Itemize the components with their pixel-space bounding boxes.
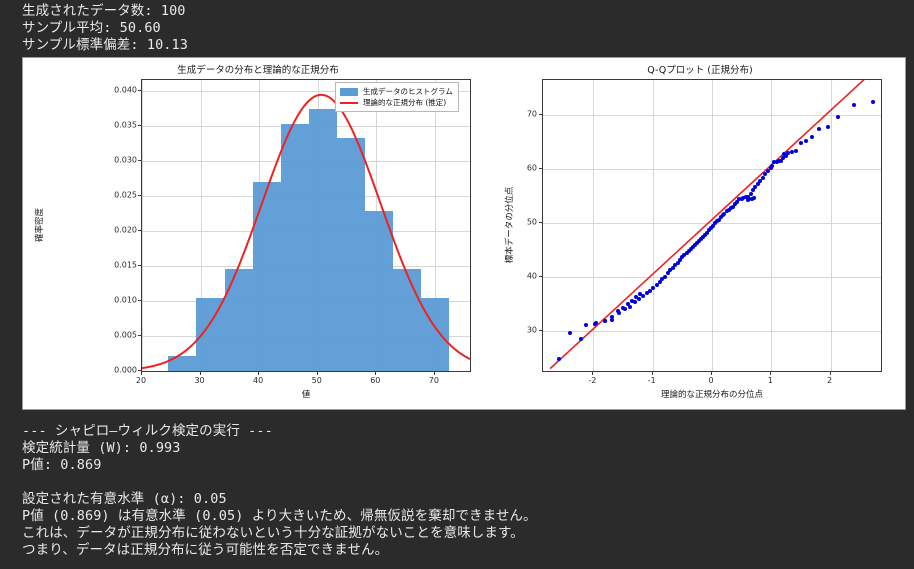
tick-mark [317, 372, 318, 375]
tick-mark [138, 195, 141, 196]
histogram-x-tick-label: 60 [370, 376, 380, 385]
qq-data-point [794, 149, 798, 153]
qq-x-tick-label: 0 [708, 376, 713, 385]
qq-data-point [579, 337, 583, 341]
console-line: サンプル平均: 50.60 [22, 20, 188, 37]
console-line: --- シャピロ–ウィルク検定の実行 --- [22, 423, 537, 440]
qq-plot-title: Q-Qプロット (正規分布) [493, 62, 907, 76]
histogram-x-tick-label: 20 [136, 376, 146, 385]
qq-data-point [610, 315, 614, 319]
histogram-x-tick-label: 30 [194, 376, 204, 385]
qq-x-tick-label: 1 [768, 376, 773, 385]
histogram-y-tick-label: 0.025 [93, 190, 137, 199]
console-line: 設定された有意水準 (α): 0.05 [22, 491, 537, 508]
tick-mark [375, 372, 376, 375]
qq-data-point [871, 100, 875, 104]
matplotlib-figure: 生成データの分布と理論的な正規分布 確率密度 値 生成データのヒストグラム 理論… [22, 57, 906, 410]
tick-mark [138, 125, 141, 126]
qq-plot-panel: Q-Qプロット (正規分布) 標本データの分位点 理論的な正規分布の分位点 30… [493, 58, 907, 411]
histogram-y-tick-label: 0.030 [93, 155, 137, 164]
histogram-x-tick-label: 50 [312, 376, 322, 385]
console-blank-line [22, 474, 537, 491]
console-line: 検定統計量 (W): 0.993 [22, 440, 537, 457]
gridline-horizontal [142, 371, 470, 372]
histogram-y-tick-label: 0.010 [93, 295, 137, 304]
histogram-y-axis-label: 確率密度 [33, 195, 45, 255]
qq-data-point [817, 127, 821, 131]
histogram-plot-area [141, 79, 471, 372]
tick-mark [770, 372, 771, 375]
histogram-x-axis-label: 値 [141, 388, 471, 400]
qq-data-point [626, 302, 630, 306]
qq-data-point [584, 323, 588, 327]
qq-data-point [836, 115, 840, 119]
histogram-y-tick-label: 0.005 [93, 330, 137, 339]
histogram-y-tick-label: 0.015 [93, 260, 137, 269]
console-output-top: 生成されたデータ数: 100 サンプル平均: 50.60 サンプル標準偏差: 1… [22, 3, 188, 54]
qq-data-point [603, 319, 607, 323]
histogram-x-tick-label: 70 [429, 376, 439, 385]
qq-y-tick-label: 30 [493, 325, 537, 334]
qq-y-tick-label: 60 [493, 163, 537, 172]
qq-data-point [752, 196, 756, 200]
legend-entry-histogram: 生成データのヒストグラム [340, 86, 453, 97]
qq-data-point [799, 141, 803, 145]
tick-mark [141, 372, 142, 375]
qq-x-tick-label: -1 [648, 376, 656, 385]
tick-mark [434, 372, 435, 375]
qq-data-point [770, 164, 774, 168]
histogram-y-tick-label: 0.040 [93, 85, 137, 94]
normal-distribution-curve [142, 80, 470, 371]
qq-data-point [852, 103, 856, 107]
histogram-legend: 生成データのヒストグラム 理論的な正規分布 (推定) [335, 82, 459, 112]
qq-x-axis-label: 理論的な正規分布の分位点 [542, 388, 882, 400]
qq-plot-area [542, 79, 882, 372]
console-line: つまり、データは正規分布に従う可能性を否定できません。 [22, 542, 537, 559]
qq-y-tick-label: 50 [493, 217, 537, 226]
tick-mark [138, 370, 141, 371]
histogram-title: 生成データの分布と理論的な正規分布 [23, 62, 493, 76]
console-line: 生成されたデータ数: 100 [22, 3, 188, 20]
qq-data-point [568, 331, 572, 335]
tick-mark [652, 372, 653, 375]
tick-mark [258, 372, 259, 375]
qq-data-point [594, 321, 598, 325]
legend-entry-normal-curve: 理論的な正規分布 (推定) [340, 97, 453, 108]
legend-label: 生成データのヒストグラム [363, 86, 453, 97]
console-output-bottom: --- シャピロ–ウィルク検定の実行 --- 検定統計量 (W): 0.993 … [22, 423, 537, 559]
qq-y-tick-label: 70 [493, 110, 537, 119]
tick-mark [138, 160, 141, 161]
tick-mark [539, 114, 542, 115]
tick-mark [138, 335, 141, 336]
screen-root: 生成されたデータ数: 100 サンプル平均: 50.60 サンプル標準偏差: 1… [0, 0, 914, 569]
tick-mark [138, 90, 141, 91]
legend-label: 理論的な正規分布 (推定) [363, 97, 446, 108]
bar-swatch-icon [340, 88, 358, 96]
qq-data-point [810, 135, 814, 139]
qq-data-point [804, 139, 808, 143]
qq-data-point [630, 299, 634, 303]
qq-data-point [777, 159, 781, 163]
qq-data-point [634, 295, 638, 299]
tick-mark [539, 276, 542, 277]
qq-data-point [784, 154, 788, 158]
qq-data-point [621, 306, 625, 310]
histogram-y-tick-label: 0.035 [93, 120, 137, 129]
tick-mark [138, 230, 141, 231]
qq-data-point [557, 357, 561, 361]
qq-y-tick-label: 40 [493, 271, 537, 280]
console-line: P値 (0.869) は有意水準 (0.05) より大きいため、帰無仮説を棄却で… [22, 508, 537, 525]
tick-mark [138, 300, 141, 301]
histogram-x-tick-label: 40 [253, 376, 263, 385]
tick-mark [539, 168, 542, 169]
console-line: P値: 0.869 [22, 457, 537, 474]
tick-mark [539, 222, 542, 223]
tick-mark [539, 330, 542, 331]
tick-mark [138, 265, 141, 266]
qq-data-point [826, 125, 830, 129]
qq-data-point [638, 292, 642, 296]
tick-mark [711, 372, 712, 375]
tick-mark [830, 372, 831, 375]
tick-mark [200, 372, 201, 375]
console-line: サンプル標準偏差: 10.13 [22, 37, 188, 54]
histogram-y-tick-label: 0.000 [93, 366, 137, 375]
tick-mark [592, 372, 593, 375]
histogram-panel: 生成データの分布と理論的な正規分布 確率密度 値 生成データのヒストグラム 理論… [23, 58, 493, 411]
histogram-y-tick-label: 0.020 [93, 225, 137, 234]
qq-data-point [616, 309, 620, 313]
qq-x-tick-label: 2 [827, 376, 832, 385]
qq-x-tick-label: -2 [588, 376, 596, 385]
console-line: これは、データが正規分布に従わないという十分な証拠がないことを意味します。 [22, 525, 537, 542]
line-swatch-icon [340, 102, 358, 104]
